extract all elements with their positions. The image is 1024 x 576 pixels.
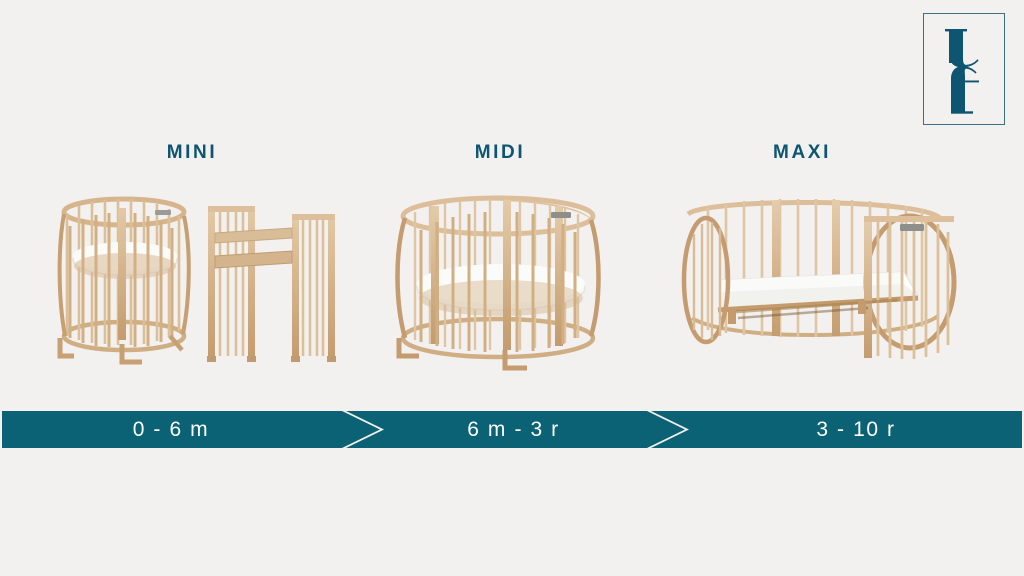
product-image-mini xyxy=(52,186,344,382)
product-image-midi xyxy=(385,190,625,376)
lf-monogram-glyph xyxy=(933,24,995,114)
timeline-label-6m-3r: 6 m - 3 r xyxy=(382,411,645,448)
product-title-maxi: MAXI xyxy=(773,142,831,164)
timeline-label-0-6m: 0 - 6 m xyxy=(2,411,340,448)
oval-crib-icon xyxy=(385,190,625,376)
product-image-maxi xyxy=(668,190,958,376)
lf-monogram-logo xyxy=(924,14,1004,124)
product-title-mini: MINI xyxy=(167,142,218,164)
round-crib-with-extension-panels-icon xyxy=(52,186,344,382)
brand-logo xyxy=(923,13,1005,125)
product-stage xyxy=(0,180,1024,390)
product-title-midi: MIDI xyxy=(475,142,526,164)
timeline-label-3-10r: 3 - 10 r xyxy=(690,411,1022,448)
oval-junior-bed-icon xyxy=(668,190,958,376)
